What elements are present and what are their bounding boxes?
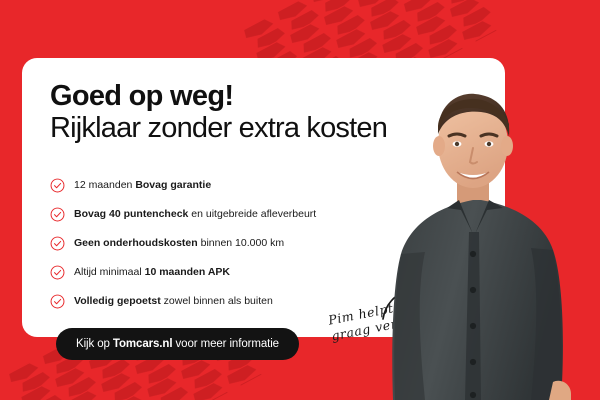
check-circle-icon [50, 236, 65, 251]
list-item-text-bold: Bovag 40 puntencheck [74, 208, 188, 220]
promo-banner: Goed op weg! Rijklaar zonder extra koste… [0, 0, 600, 400]
check-circle-icon [50, 265, 65, 280]
page-title: Goed op weg! [50, 80, 490, 112]
list-item-text-bold: Bovag garantie [135, 179, 211, 191]
more-info-button-label: Kijk op Tomcars.nl voor meer informatie [76, 338, 279, 350]
list-item: 12 maanden Bovag garantie [50, 171, 480, 200]
list-item-text-post: en uitgebreide afleverbeurt [188, 208, 316, 220]
list-item-text-bold: Geen onderhoudskosten [74, 237, 198, 249]
list-item-label: Bovag 40 puntencheck en uitgebreide afle… [74, 208, 316, 221]
list-item-label: Volledig gepoetst zowel binnen als buite… [74, 295, 273, 308]
check-circle-icon [50, 207, 65, 222]
cta-text-post: voor meer informatie [172, 338, 279, 350]
list-item-text-post: zowel binnen als buiten [161, 295, 273, 307]
list-item: Geen onderhoudskosten binnen 10.000 km [50, 229, 480, 258]
cta-text-pre: Kijk op [76, 338, 113, 350]
list-item-text-bold: 10 maanden APK [145, 266, 230, 278]
more-info-button[interactable]: Kijk op Tomcars.nl voor meer informatie [56, 328, 299, 360]
list-item: Altijd minimaal 10 maanden APK [50, 258, 480, 287]
cta-text-bold: Tomcars.nl [113, 338, 173, 350]
check-circle-icon [50, 294, 65, 309]
list-item-label: Geen onderhoudskosten binnen 10.000 km [74, 237, 284, 250]
headline-block: Goed op weg! Rijklaar zonder extra koste… [50, 80, 490, 145]
list-item-text-bold: Volledig gepoetst [74, 295, 161, 307]
page-subtitle: Rijklaar zonder extra kosten [50, 112, 490, 144]
list-item-label: 12 maanden Bovag garantie [74, 179, 211, 192]
content-card: Goed op weg! Rijklaar zonder extra koste… [22, 58, 505, 337]
list-item-text-post: binnen 10.000 km [198, 237, 284, 249]
check-circle-icon [50, 178, 65, 193]
list-item-text-pre: 12 maanden [74, 179, 135, 191]
list-item: Bovag 40 puntencheck en uitgebreide afle… [50, 200, 480, 229]
list-item-label: Altijd minimaal 10 maanden APK [74, 266, 230, 279]
list-item-text-pre: Altijd minimaal [74, 266, 145, 278]
